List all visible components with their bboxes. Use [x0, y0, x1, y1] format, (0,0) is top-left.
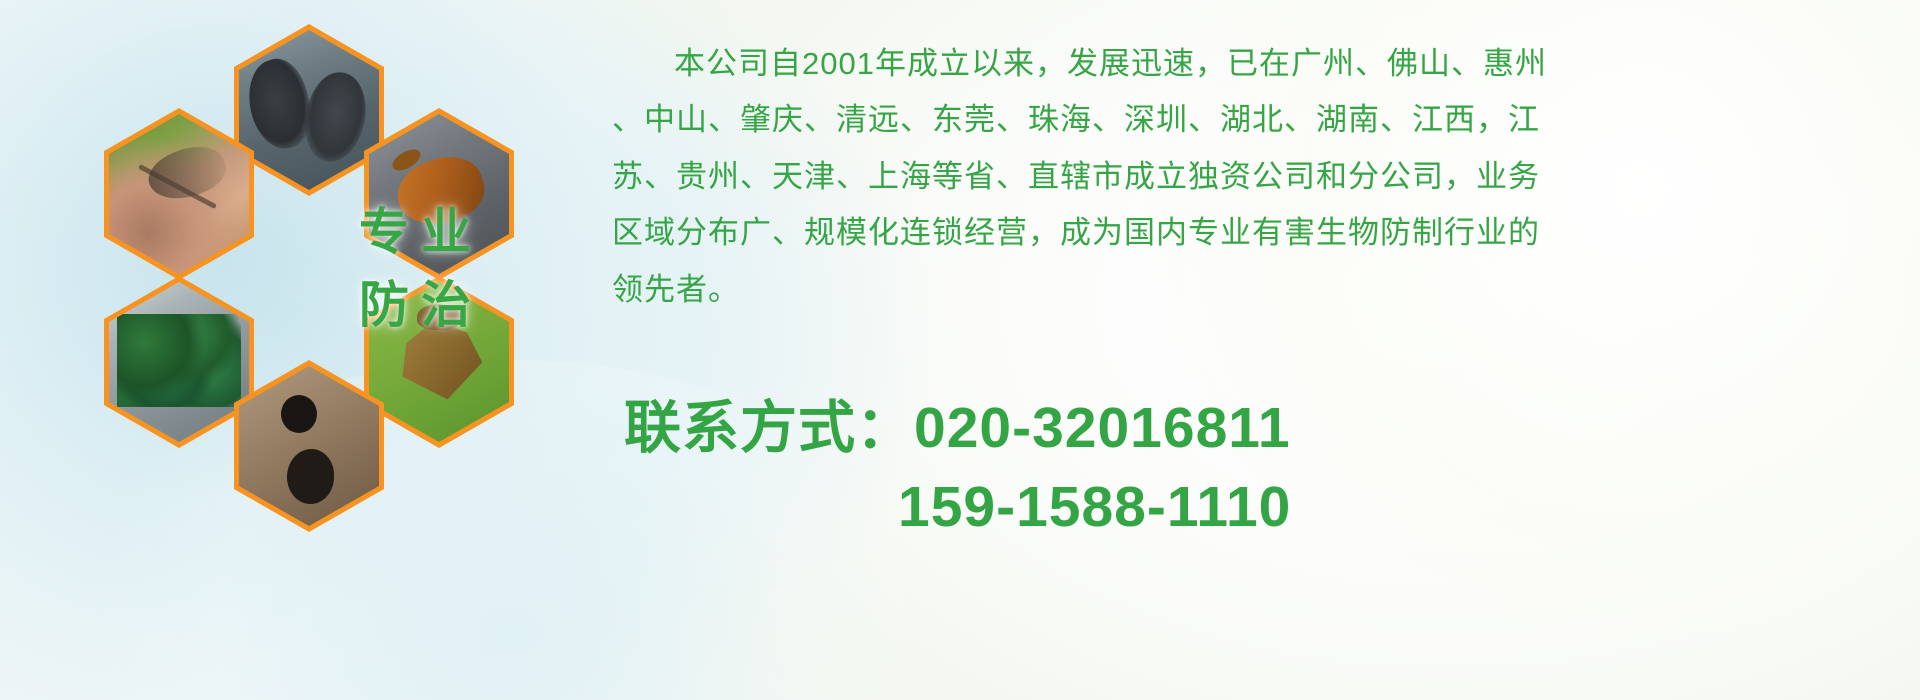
intro-line-1: 本公司自2001年成立以来，发展迅速，已在广州、佛山、惠州	[612, 36, 1900, 92]
promo-banner: 专业 防治 本公司自2001年成立以来，发展迅速，已在广州、佛山、惠州 、中山、…	[0, 0, 1920, 700]
intro-line-2: 、中山、肇庆、清远、东莞、珠海、深圳、湖北、湖南、江西，江	[612, 92, 1900, 148]
intro-line-4: 区域分布广、规模化连锁经营，成为国内专业有害生物防制行业的	[612, 205, 1900, 261]
intro-line-3: 苏、贵州、天津、上海等省、直辖市成立独资公司和分公司，业务	[612, 149, 1900, 205]
flies-image	[109, 282, 249, 442]
ant-image	[239, 366, 379, 526]
company-intro-text: 本公司自2001年成立以来，发展迅速，已在广州、佛山、惠州 、中山、肇庆、清远、…	[612, 36, 1900, 318]
mosquito-image	[109, 114, 249, 274]
intro-line-5: 领先者。	[612, 262, 1900, 318]
hex-photo-stink-bug[interactable]	[364, 276, 514, 448]
contact-block: 联系方式：020-32016811 159-1588-1110	[612, 395, 1902, 542]
contact-phone-primary[interactable]: 联系方式：020-32016811	[612, 395, 1902, 462]
hexagon-photo-cluster: 专业 防治	[88, 10, 588, 570]
contact-phone-secondary[interactable]: 159-1588-1110	[612, 474, 1902, 541]
hex-photo-flies[interactable]	[104, 276, 254, 448]
stink-bug-image	[369, 282, 509, 442]
hex-photo-ant[interactable]	[234, 360, 384, 532]
hex-photo-cockroach[interactable]	[364, 108, 514, 280]
hex-photo-mosquito[interactable]	[104, 108, 254, 280]
rats-image	[239, 30, 379, 190]
hex-photo-rats[interactable]	[234, 24, 384, 196]
cockroach-image	[369, 114, 509, 274]
